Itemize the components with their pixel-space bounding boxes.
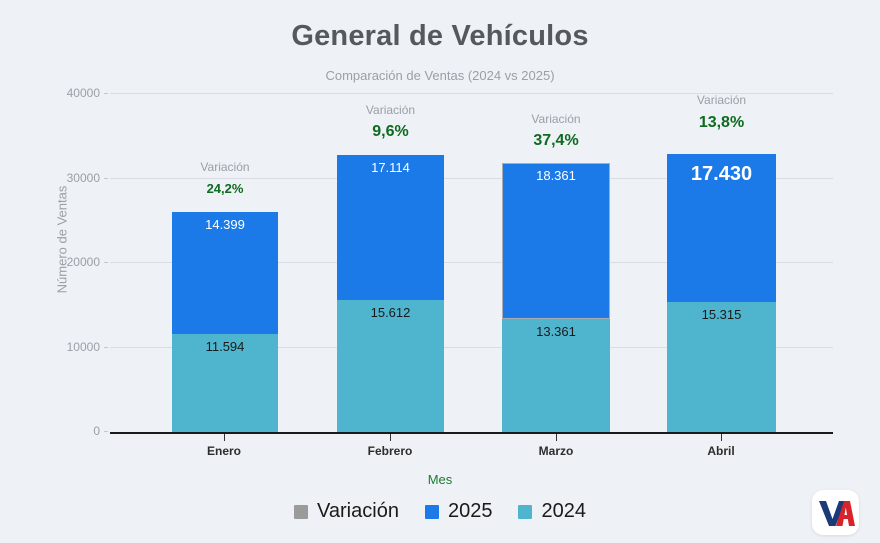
x-tick-label-marzo: Marzo	[496, 444, 616, 458]
x-tick-mark-abril	[721, 434, 722, 441]
y-tick-label-0: 0	[42, 424, 100, 438]
legend-item-variacion[interactable]: Variación	[294, 500, 399, 523]
bar-value-febrero-2025: 17.114	[337, 160, 444, 175]
y-tick-mark-30000	[104, 178, 108, 179]
legend-swatch-icon-2024	[518, 505, 532, 519]
variation-value-enero: 24,2%	[172, 181, 278, 196]
bar-value-marzo-2024: 13.361	[502, 324, 610, 339]
legend-label-variacion: Variación	[317, 500, 399, 523]
bar-febrero-2025[interactable]	[337, 155, 444, 300]
legend-item-2024[interactable]: 2024	[518, 500, 586, 523]
bar-marzo-2025[interactable]	[502, 163, 610, 319]
chart-canvas: General de Vehículos Comparación de Vent…	[0, 0, 880, 543]
variation-value-abril: 13,8%	[667, 114, 776, 132]
bar-value-enero-2024: 11.594	[172, 339, 278, 354]
variation-caption-marzo: Variación	[502, 112, 610, 126]
y-tick-mark-0	[104, 431, 108, 432]
legend-swatch-icon-variacion	[294, 505, 308, 519]
legend-item-2025[interactable]: 2025	[425, 500, 493, 523]
y-tick-mark-40000	[104, 93, 108, 94]
brand-logo-icon	[812, 490, 859, 535]
y-tick-label-20000: 20000	[42, 255, 100, 269]
x-axis-line	[110, 432, 833, 434]
legend-label-2024: 2024	[541, 500, 586, 523]
y-tick-label-40000: 40000	[42, 86, 100, 100]
variation-value-febrero: 9,6%	[337, 123, 444, 141]
variation-caption-abril: Variación	[667, 93, 776, 107]
y-tick-mark-10000	[104, 347, 108, 348]
x-tick-label-abril: Abril	[661, 444, 781, 458]
x-tick-mark-marzo	[556, 434, 557, 441]
x-axis-label: Mes	[0, 472, 880, 487]
x-tick-mark-febrero	[390, 434, 391, 441]
variation-caption-enero: Variación	[172, 160, 278, 174]
variation-value-marzo: 37,4%	[502, 132, 610, 150]
legend-label-2025: 2025	[448, 500, 493, 523]
legend-swatch-icon-2025	[425, 505, 439, 519]
y-tick-mark-20000	[104, 262, 108, 263]
x-tick-label-febrero: Febrero	[330, 444, 450, 458]
chart-title: General de Vehículos	[0, 20, 880, 53]
va-logo-svg	[817, 498, 855, 528]
variation-caption-febrero: Variación	[337, 103, 444, 117]
x-tick-label-enero: Enero	[164, 444, 284, 458]
y-tick-label-30000: 30000	[42, 171, 100, 185]
bar-value-febrero-2024: 15.612	[337, 305, 444, 320]
bar-value-marzo-2025: 18.361	[502, 168, 610, 183]
bar-value-abril-2024: 15.315	[667, 307, 776, 322]
bar-value-abril-2025: 17.430	[667, 163, 776, 186]
chart-subtitle: Comparación de Ventas (2024 vs 2025)	[0, 68, 880, 83]
chart-legend: Variación 2025 2024	[0, 500, 880, 523]
y-axis-label: Número de Ventas	[55, 160, 70, 320]
x-tick-mark-enero	[224, 434, 225, 441]
bar-value-enero-2025: 14.399	[172, 217, 278, 232]
y-tick-label-10000: 10000	[42, 340, 100, 354]
